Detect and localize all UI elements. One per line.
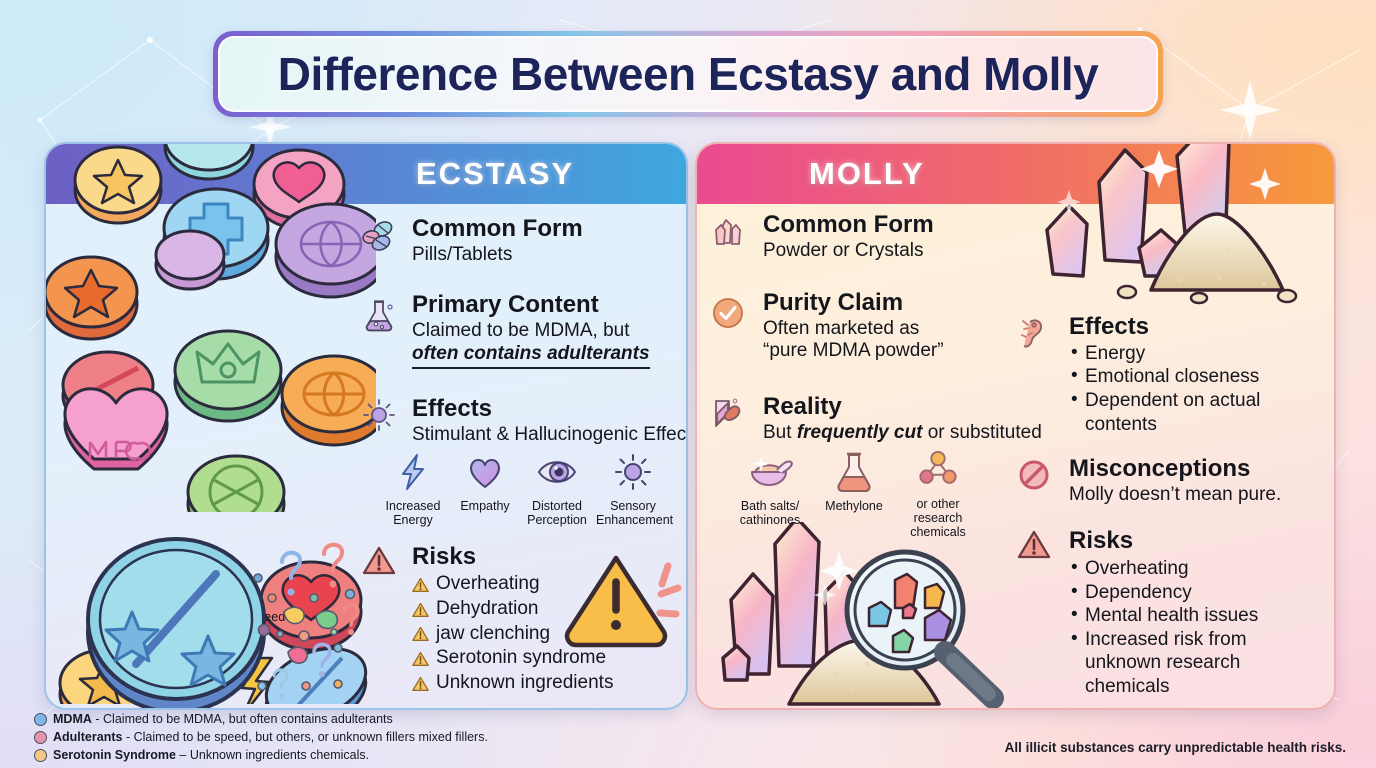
molly-panel: MOLLY bbox=[695, 142, 1336, 710]
warning-small-icon bbox=[412, 675, 429, 692]
legend-row: MDMA - Claimed to be MDMA, but often con… bbox=[34, 710, 488, 728]
effect-caption: Sensory Enhancement bbox=[596, 499, 670, 527]
risk-label: Dehydration bbox=[436, 597, 538, 622]
section-primary-content: Primary Content Claimed to be MDMA, but … bbox=[362, 292, 677, 384]
legend-dash: - bbox=[95, 712, 99, 726]
risks-heading: Risks bbox=[412, 544, 677, 571]
misconceptions-sub: Molly doesn’t mean pure. bbox=[1069, 484, 1317, 506]
powder-scoop-icon bbox=[711, 396, 745, 430]
effects-sub: Stimulant & Hallucinogenic Effects bbox=[412, 424, 677, 446]
ecstasy-risks-list: Overheating Dehydration jaw clenching Se… bbox=[412, 572, 677, 695]
effect-caption: Empathy bbox=[452, 499, 518, 513]
effects-heading: Effects bbox=[1069, 314, 1317, 341]
legend-dash: - bbox=[126, 730, 130, 744]
eye-icon bbox=[535, 452, 579, 492]
risk-row: Dehydration bbox=[412, 597, 677, 622]
molly-right-column: Effects Energy Emotional closeness Depen… bbox=[1017, 314, 1317, 701]
list-item: Dependent on actual contents bbox=[1069, 389, 1317, 436]
lightning-bolt-icon bbox=[393, 452, 433, 492]
molly-header-label: MOLLY bbox=[809, 156, 925, 192]
caffeine-label: Caffeine bbox=[189, 610, 235, 624]
molly-substitute-icons: Bath salts/ cathinones Methylone bbox=[733, 450, 1041, 539]
section-risks: Risks Overheating Dependency Mental heal… bbox=[1017, 528, 1317, 698]
ecstasy-content-column: Common Form Pills/Tablets Primary Conten… bbox=[362, 216, 677, 698]
check-circle-icon bbox=[711, 296, 745, 330]
list-item: Increased risk from unknown research che… bbox=[1069, 628, 1317, 699]
disclaimer-text: All illicit substances carry unpredictab… bbox=[1005, 740, 1346, 755]
legend-dot bbox=[34, 713, 47, 726]
pills-icon bbox=[362, 220, 396, 254]
primary-content-heading: Primary Content bbox=[412, 292, 677, 319]
effects-heading: Effects bbox=[412, 396, 677, 423]
page-title: Difference Between Ecstasy and Molly bbox=[278, 47, 1099, 101]
mystery-pill-illustration bbox=[66, 524, 386, 710]
legend-text: Adulterants - Claimed to be speed, but o… bbox=[53, 728, 488, 746]
effect-caption: Distorted Perception bbox=[524, 499, 590, 527]
section-common-form: Common Form Pills/Tablets bbox=[362, 216, 677, 284]
legend-row: Adulterants - Claimed to be speed, but o… bbox=[34, 728, 488, 746]
effect-empathy: Empathy bbox=[452, 452, 518, 527]
bowl-powder-icon bbox=[747, 450, 793, 492]
molecule-icon bbox=[915, 450, 961, 490]
risk-row: Unknown ingredients bbox=[412, 671, 677, 696]
molly-effects-list: Energy Emotional closeness Dependent on … bbox=[1069, 342, 1317, 436]
misconceptions-heading: Misconceptions bbox=[1069, 456, 1317, 483]
effect-distorted-perception: Distorted Perception bbox=[524, 452, 590, 527]
legend-term: MDMA bbox=[53, 712, 92, 726]
ecstasy-panel-header: ECSTASY bbox=[46, 144, 686, 204]
warning-small-icon bbox=[412, 601, 429, 618]
magnifier-crystals-illustration bbox=[717, 522, 1017, 710]
risks-heading: Risks bbox=[1069, 528, 1317, 555]
legend-desc: Unknown ingredients chemicals. bbox=[190, 748, 369, 762]
sparkle-sun-icon bbox=[362, 398, 396, 432]
sun-icon bbox=[613, 452, 653, 492]
risk-label: jaw clenching bbox=[436, 622, 550, 647]
section-purity-claim: Purity Claim Often marketed as “pure MDM… bbox=[711, 290, 1041, 382]
risk-row: Serotonin syndrome bbox=[412, 646, 677, 671]
substitute-caption: or other research chemicals bbox=[901, 497, 975, 539]
warning-small-icon bbox=[412, 650, 429, 667]
common-form-sub: Powder or Crystals bbox=[763, 240, 1041, 262]
ecstasy-header-label: ECSTASY bbox=[416, 156, 574, 192]
substitute-research-chemicals: or other research chemicals bbox=[901, 450, 975, 539]
legend-text: Serotonin Syndrome – Unknown ingredients… bbox=[53, 746, 369, 764]
molly-left-column: Common Form Powder or Crystals Purity Cl… bbox=[711, 212, 1041, 539]
section-misconceptions: Misconceptions Molly doesn’t mean pure. bbox=[1017, 456, 1317, 506]
ecstasy-panel: ECSTASY bbox=[44, 142, 688, 710]
reality-emphasis: frequently cut bbox=[797, 422, 923, 443]
no-entry-icon bbox=[1017, 458, 1051, 492]
substitute-bath-salts: Bath salts/ cathinones bbox=[733, 450, 807, 539]
section-reality: Reality But frequently cut or substitute… bbox=[711, 394, 1041, 444]
legend-term: Serotonin Syndrome bbox=[53, 748, 176, 762]
nerve-icon bbox=[1017, 315, 1051, 349]
section-risks: Risks Overheating Dehydration jaw clench… bbox=[362, 544, 677, 695]
list-item: Energy bbox=[1069, 342, 1317, 366]
heart-icon bbox=[465, 452, 505, 492]
common-form-heading: Common Form bbox=[412, 216, 677, 243]
list-item: Overheating bbox=[1069, 557, 1317, 581]
primary-content-emphasis: often contains adulterants bbox=[412, 343, 650, 368]
purity-claim-line2: “pure MDMA powder” bbox=[763, 340, 1041, 362]
primary-content-line2: often contains adulterants bbox=[412, 343, 677, 368]
legend-desc: Claimed to be MDMA, but often contains a… bbox=[103, 712, 393, 726]
ecstasy-pills-illustration-lower bbox=[46, 444, 386, 704]
purity-claim-heading: Purity Claim bbox=[763, 290, 1041, 317]
warning-triangle-icon bbox=[1017, 528, 1051, 562]
flask-icon bbox=[362, 298, 396, 332]
list-item: Mental health issues bbox=[1069, 604, 1317, 628]
section-effects: Effects Stimulant & Hallucinogenic Effec… bbox=[362, 396, 677, 446]
legend-dash: – bbox=[179, 748, 186, 762]
warning-small-icon bbox=[412, 625, 429, 642]
legend-text: MDMA - Claimed to be MDMA, but often con… bbox=[53, 710, 393, 728]
warning-small-icon bbox=[412, 576, 429, 593]
speed-label: Speed bbox=[249, 610, 285, 624]
list-item: Emotional closeness bbox=[1069, 365, 1317, 389]
molly-panel-header: MOLLY bbox=[697, 144, 1334, 204]
title-banner: Difference Between Ecstasy and Molly bbox=[213, 31, 1163, 117]
effect-caption: Increased Energy bbox=[380, 499, 446, 527]
purity-claim-line1: Often marketed as bbox=[763, 318, 1041, 340]
legend-dot bbox=[34, 749, 47, 762]
risk-label: Overheating bbox=[436, 572, 540, 597]
risk-row: Overheating bbox=[412, 572, 677, 597]
risk-row: jaw clenching bbox=[412, 622, 677, 647]
effect-increased-energy: Increased Energy bbox=[380, 452, 446, 527]
ecstasy-effect-icons: Increased Energy Empathy bbox=[380, 452, 677, 527]
flask-icon bbox=[834, 450, 874, 492]
reality-pre: But bbox=[763, 422, 797, 443]
risk-label: Serotonin syndrome bbox=[436, 646, 606, 671]
legend-desc: Claimed to be speed, but others, or unkn… bbox=[134, 730, 488, 744]
substitute-caption: Methylone bbox=[821, 499, 887, 513]
legend-row: Serotonin Syndrome – Unknown ingredients… bbox=[34, 746, 488, 764]
list-item: Dependency bbox=[1069, 581, 1317, 605]
effect-sensory-enhancement: Sensory Enhancement bbox=[596, 452, 670, 527]
section-common-form: Common Form Powder or Crystals bbox=[711, 212, 1041, 282]
common-form-sub: Pills/Tablets bbox=[412, 244, 677, 266]
crystal-icon bbox=[711, 216, 745, 250]
warning-triangle-icon bbox=[362, 544, 396, 578]
substitute-caption: Bath salts/ cathinones bbox=[733, 499, 807, 527]
legend: MDMA - Claimed to be MDMA, but often con… bbox=[34, 710, 488, 764]
reality-heading: Reality bbox=[763, 394, 1041, 421]
molly-risks-list: Overheating Dependency Mental health iss… bbox=[1069, 557, 1317, 698]
primary-content-line1: Claimed to be MDMA, but bbox=[412, 320, 677, 342]
risk-label: Unknown ingredients bbox=[436, 671, 613, 696]
legend-term: Adulterants bbox=[53, 730, 122, 744]
legend-dot bbox=[34, 731, 47, 744]
substitute-methylone: Methylone bbox=[821, 450, 887, 539]
section-effects: Effects Energy Emotional closeness Depen… bbox=[1017, 314, 1317, 436]
reality-sub: But frequently cut or substituted bbox=[763, 422, 1041, 444]
infographic-canvas: Difference Between Ecstasy and Molly ECS… bbox=[0, 0, 1376, 768]
common-form-heading: Common Form bbox=[763, 212, 1041, 239]
